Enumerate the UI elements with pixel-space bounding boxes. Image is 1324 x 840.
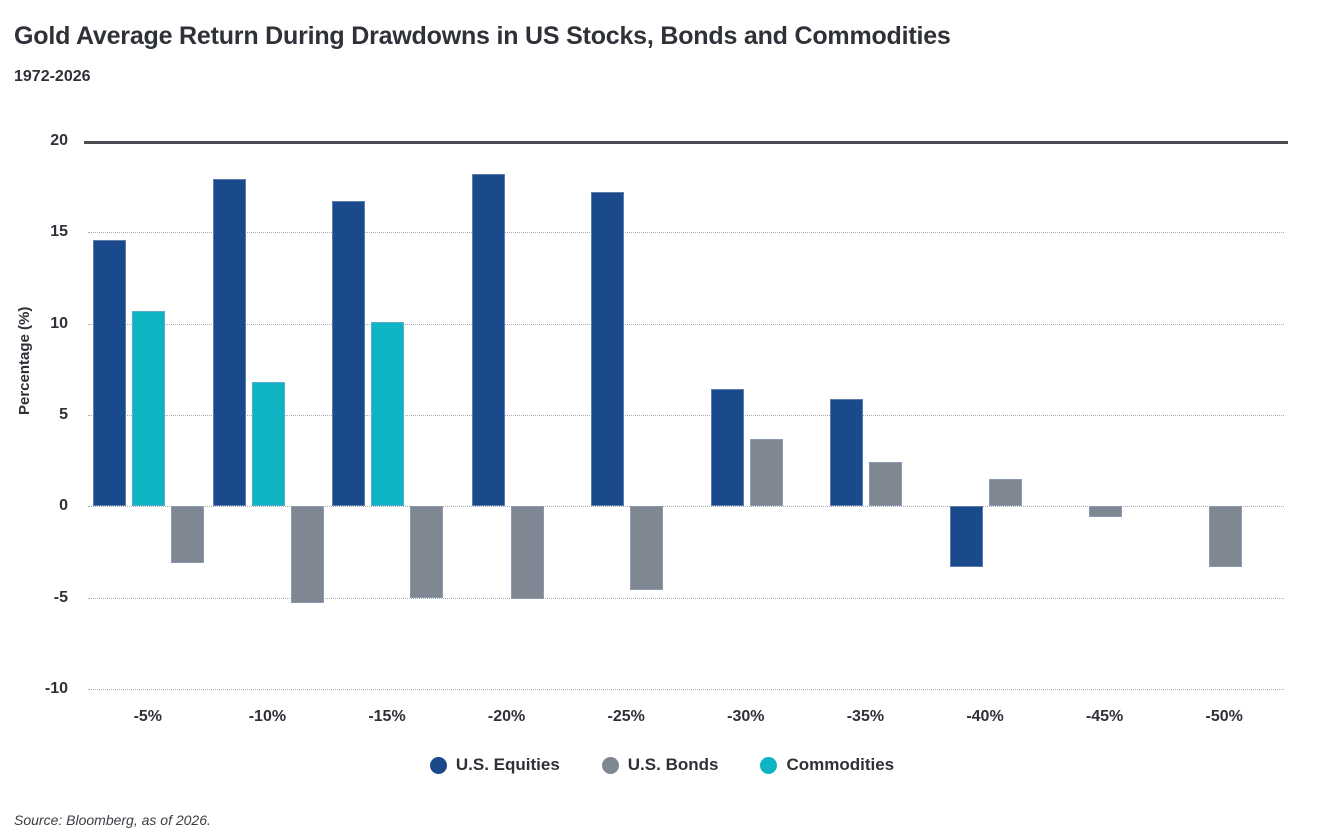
bar-group: [566, 141, 686, 689]
legend-label: U.S. Equities: [456, 755, 560, 775]
legend-item-equities[interactable]: U.S. Equities: [430, 755, 560, 775]
y-tick-label: 5: [59, 406, 68, 424]
bar-bonds[interactable]: [410, 506, 443, 597]
bar-bonds[interactable]: [291, 506, 324, 603]
bar-group: [88, 141, 208, 689]
bar-group: [806, 141, 926, 689]
legend-item-commodities[interactable]: Commodities: [760, 755, 894, 775]
bar-bonds[interactable]: [1209, 506, 1242, 566]
y-tick-label: 20: [50, 132, 68, 150]
plot-area: [88, 141, 1284, 689]
bar-bonds[interactable]: [630, 506, 663, 590]
y-tick-label: 15: [50, 223, 68, 241]
y-tick-label: -5: [54, 589, 68, 607]
legend-item-bonds[interactable]: U.S. Bonds: [602, 755, 719, 775]
x-tick-label: -10%: [249, 708, 286, 726]
bar-bonds[interactable]: [750, 439, 783, 507]
gridline: [88, 689, 1284, 690]
legend-swatch-equities-icon: [430, 757, 447, 774]
bar-equities[interactable]: [830, 399, 863, 507]
bar-group: [208, 141, 328, 689]
bar-equities[interactable]: [472, 174, 505, 506]
zero-baseline: [84, 141, 1288, 144]
bar-equities[interactable]: [93, 240, 126, 507]
bar-bonds[interactable]: [171, 506, 204, 563]
x-tick-label: -45%: [1086, 708, 1123, 726]
bar-bonds[interactable]: [869, 462, 902, 506]
bar-commodities[interactable]: [371, 322, 404, 506]
bar-group: [686, 141, 806, 689]
bar-equities[interactable]: [213, 179, 246, 506]
bar-group: [327, 141, 447, 689]
y-tick-label: 10: [50, 315, 68, 333]
x-tick-label: -40%: [966, 708, 1003, 726]
legend-label: Commodities: [786, 755, 894, 775]
bar-commodities[interactable]: [252, 382, 285, 506]
x-tick-label: -5%: [134, 708, 162, 726]
bar-bonds[interactable]: [1089, 506, 1122, 517]
x-tick-label: -20%: [488, 708, 525, 726]
page-title: Gold Average Return During Drawdowns in …: [14, 22, 951, 51]
bar-group: [1164, 141, 1284, 689]
bar-group: [925, 141, 1045, 689]
bar-bonds[interactable]: [989, 479, 1022, 506]
chart-legend: U.S. EquitiesU.S. BondsCommodities: [0, 755, 1324, 775]
legend-swatch-commodities-icon: [760, 757, 777, 774]
y-axis-tick-labels: 20151050-5-10: [0, 141, 80, 689]
bar-equities[interactable]: [711, 389, 744, 506]
x-tick-label: -25%: [608, 708, 645, 726]
bar-bonds[interactable]: [511, 506, 544, 599]
legend-label: U.S. Bonds: [628, 755, 719, 775]
bar-equities[interactable]: [591, 192, 624, 506]
x-tick-label: -15%: [368, 708, 405, 726]
source-note: Source: Bloomberg, as of 2026.: [14, 812, 211, 828]
chart-page: Gold Average Return During Drawdowns in …: [0, 0, 1324, 840]
bar-commodities[interactable]: [132, 311, 165, 506]
bar-equities[interactable]: [950, 506, 983, 566]
page-subtitle: 1972-2026: [14, 68, 91, 86]
bar-equities[interactable]: [332, 201, 365, 506]
bar-group: [1045, 141, 1165, 689]
x-tick-label: -30%: [727, 708, 764, 726]
x-tick-label: -50%: [1206, 708, 1243, 726]
y-tick-label: 0: [59, 497, 68, 515]
bar-group: [447, 141, 567, 689]
legend-swatch-bonds-icon: [602, 757, 619, 774]
y-tick-label: -10: [45, 680, 68, 698]
x-axis-tick-labels: -5%-10%-15%-20%-25%-30%-35%-40%-45%-50%: [88, 708, 1284, 734]
x-tick-label: -35%: [847, 708, 884, 726]
